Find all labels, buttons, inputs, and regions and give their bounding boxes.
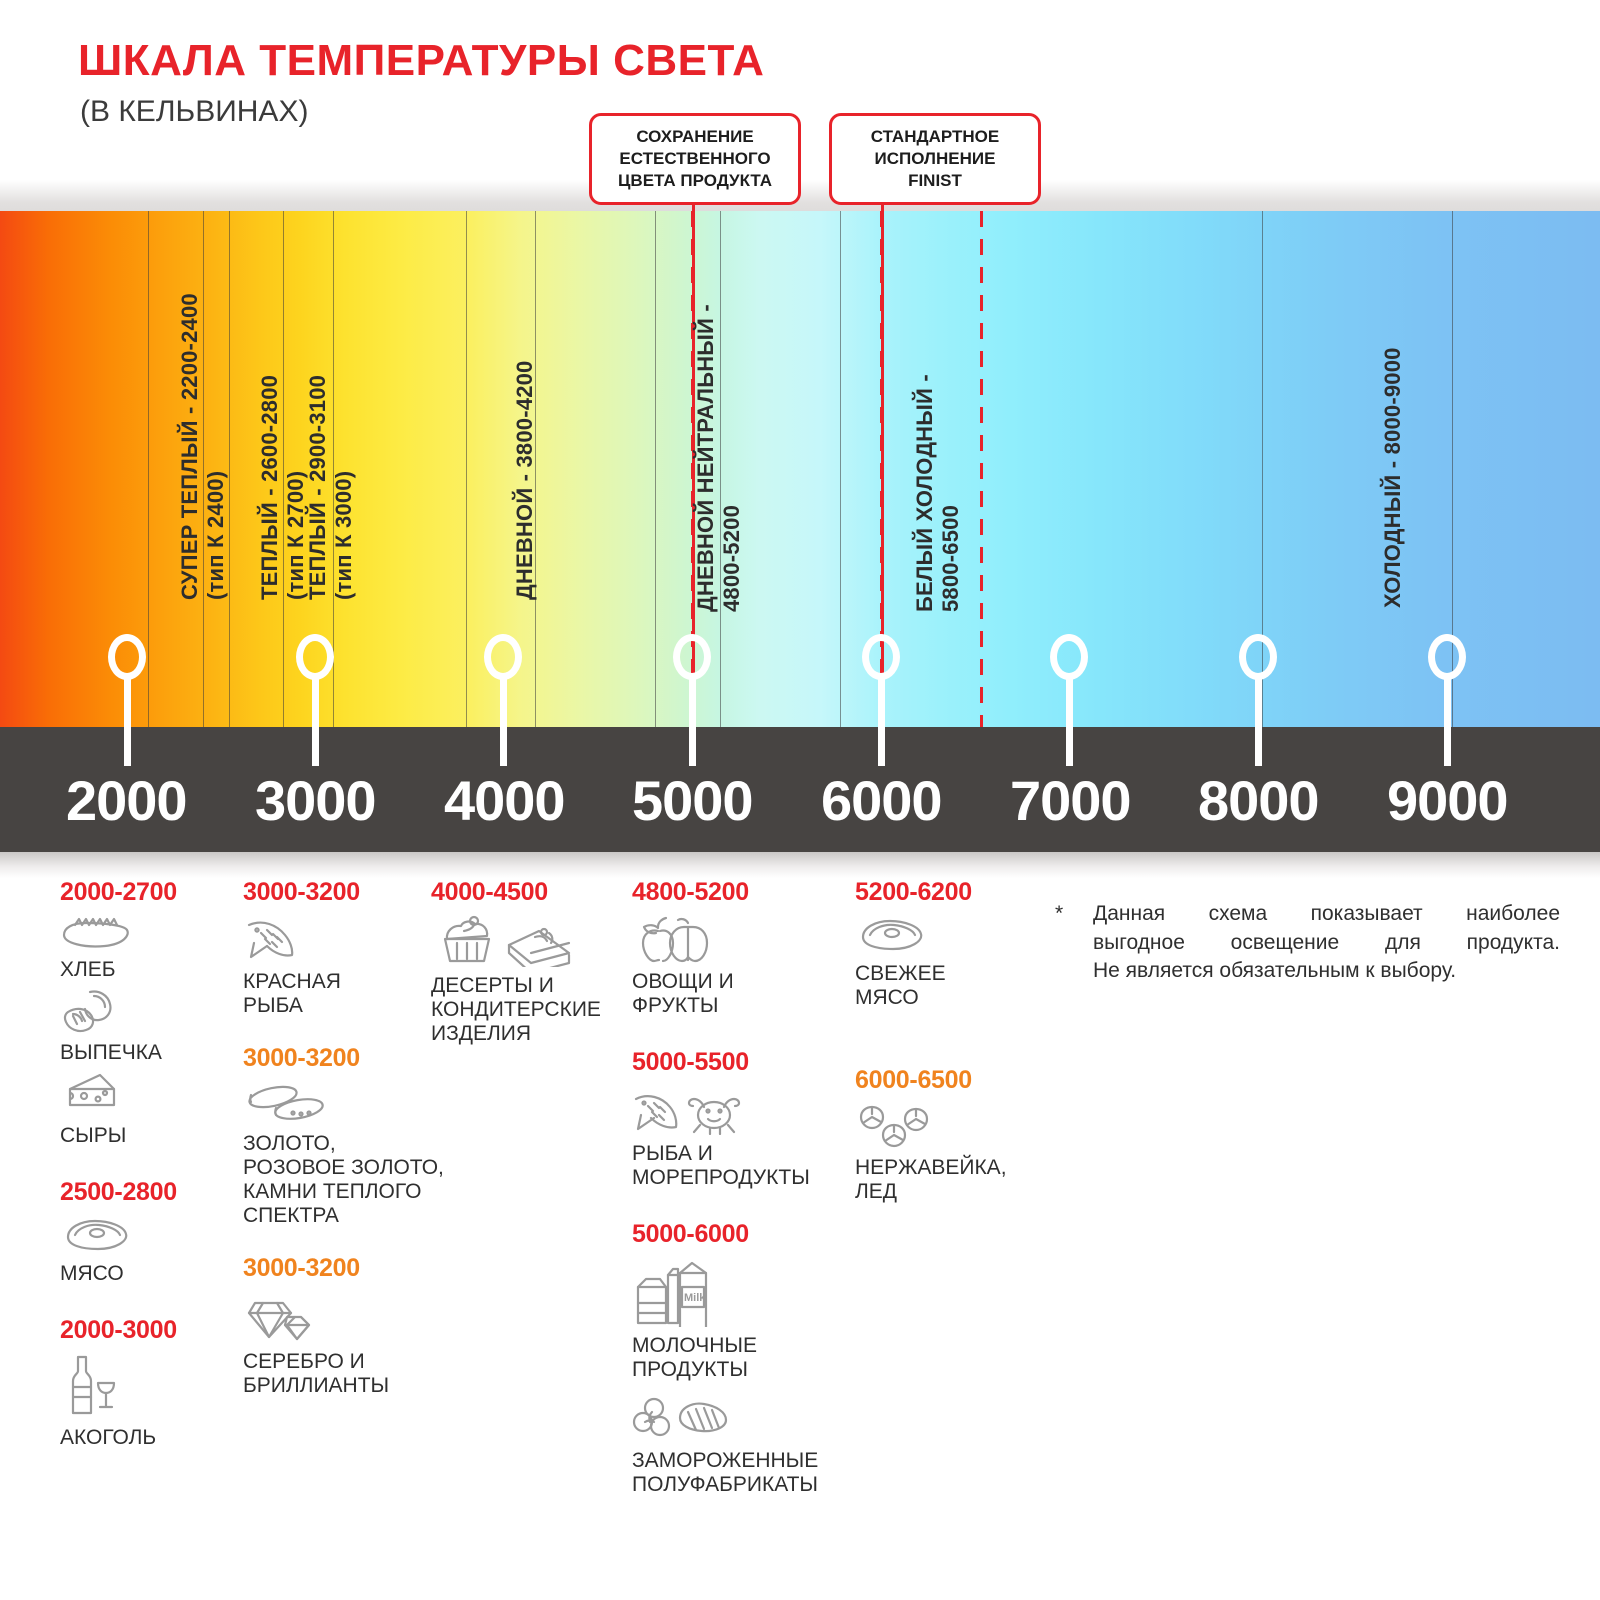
legend-label: ДЕСЕРТЫ И КОНДИТЕРСКИЕ ИЗДЕЛИЯ [431,974,621,1046]
legend-label: ВЫПЕЧКА [60,1041,235,1065]
legend-label: ЗОЛОТО, РОЗОВОЕ ЗОЛОТО, КАМНИ ТЕПЛОГО СП… [243,1132,473,1228]
cheese-icon [60,1071,235,1122]
callout-finist-standard[interactable]: СТАНДАРТНОЕ ИСПОЛНЕНИЕ FINIST [829,113,1041,205]
scale-tick-6000: 6000 [821,768,942,833]
band-label-white-cold-1: БЕЛЫЙ ХОЛОДНЫЙ - [912,374,938,612]
legend-range: 2500-2800 [60,1178,235,1207]
legend-label: НЕРЖАВЕЙКА, ЛЕД [855,1156,1045,1204]
band-label-daylight-neutral-2: 4800-5200 [719,505,745,612]
legend-column-1: 2000-2700 ХЛЕБ ВЫПЕЧКА [60,878,235,1456]
legend-group: 4800-5200 ОВОЩИ И ФРУКТЫ [632,878,857,1018]
scale-bottom-shadow [0,852,1600,878]
band-divider [466,211,467,727]
band-divider [720,211,721,727]
marker-stem [1066,674,1073,766]
footnote-line-2: выгодное освещение для продукта. [1093,929,1560,958]
legend-column-5: 5200-6200 СВЕЖЕЕ МЯСО 6000-6500 НЕРЖАВЕЙ… [855,878,1045,1210]
band-label-super-warm-1: СУПЕР ТЕПЛЫЙ - 2200-2400 [177,293,203,600]
band-label-super-warm-2: (тип К 2400) [203,471,229,600]
legend-range: 3000-3200 [243,1254,473,1283]
page-subtitle: (В КЕЛЬВИНАХ) [80,95,308,129]
bread-icon [60,915,235,956]
band-divider [655,211,656,727]
fish-crab-icon [632,1085,857,1140]
kelvin-scale-bar [0,727,1600,852]
cupcake-cake-icon [431,915,621,972]
footnote: * Данная схема показывает наиболее выгод… [1055,900,1560,986]
legend-group: 5200-6200 СВЕЖЕЕ МЯСО [855,878,1045,1010]
legend-range: 2000-3000 [60,1316,235,1345]
legend-item[interactable]: СЫРЫ [60,1071,235,1148]
legend-group: 5000-6000 Milk МОЛОЧНЫЕ ПРОДУКТЫ ЗАМОРОЖ… [632,1220,857,1497]
legend-item[interactable]: СЕРЕБРО И БРИЛЛИАНТЫ [243,1291,473,1398]
legend-item[interactable]: ОВОЩИ И ФРУКТЫ [632,915,857,1018]
page-title: ШКАЛА ТЕМПЕРАТУРЫ СВЕТА [78,36,764,86]
legend-range: 5000-6000 [632,1220,857,1249]
legend-group: 5000-5500 РЫБА И МОРЕПРОДУКТЫ [632,1048,857,1190]
scale-tick-8000: 8000 [1198,768,1319,833]
legend-item[interactable]: РЫБА И МОРЕПРОДУКТЫ [632,1085,857,1190]
band-label-daylight: ДНЕВНОЙ - 3800-4200 [512,361,538,601]
steak-icon [60,1215,235,1260]
legend-group: 4000-4500 ДЕСЕРТЫ И КОНДИТЕРСКИЕ ИЗДЕЛИЯ [431,878,621,1046]
scale-tick-2000: 2000 [66,768,187,833]
bottle-glass-icon [60,1353,235,1424]
fresh-meat-icon [855,915,1045,960]
legend-group: 2000-3000 АКОГОЛЬ [60,1316,235,1450]
legend-label: ХЛЕБ [60,958,235,982]
legend-item[interactable]: СВЕЖЕЕ МЯСО [855,915,1045,1010]
frozen-food-icon [632,1396,857,1447]
footnote-line-3: Не является обязательным к выбору. [1093,957,1560,986]
band-label-white-cold-2: 5800-6500 [938,505,964,612]
legend-item[interactable]: ЗАМОРОЖЕННЫЕ ПОЛУФАБРИКАТЫ [632,1396,857,1497]
band-divider [203,211,204,727]
band-label-warm3000-1: ТЕПЛЫЙ - 2900-3100 [305,375,331,600]
legend-group: 3000-3200 СЕРЕБРО И БРИЛЛИАНТЫ [243,1254,473,1398]
product-legend: 2000-2700 ХЛЕБ ВЫПЕЧКА [0,878,1600,1600]
legend-label: МОЛОЧНЫЕ ПРОДУКТЫ [632,1334,857,1382]
legend-label: ОВОЩИ И ФРУКТЫ [632,970,857,1018]
scale-tick-9000: 9000 [1387,768,1508,833]
legend-label: МЯСО [60,1262,235,1286]
band-divider [283,211,284,727]
color-temperature-spectrum [0,211,1600,727]
marker-stem [1444,674,1451,766]
legend-item[interactable]: АКОГОЛЬ [60,1353,235,1450]
legend-label: АКОГОЛЬ [60,1426,235,1450]
band-divider [148,211,149,727]
callout-finist-standard-l1: СТАНДАРТНОЕ ИСПОЛНЕНИЕ FINIST [844,126,1026,191]
legend-item[interactable]: ДЕСЕРТЫ И КОНДИТЕРСКИЕ ИЗДЕЛИЯ [431,915,621,1046]
milk-carton-icon: Milk [632,1257,857,1332]
legend-item[interactable]: Milk МОЛОЧНЫЕ ПРОДУКТЫ [632,1257,857,1382]
band-label-cold: ХОЛОДНЫЙ - 8000-9000 [1380,347,1406,608]
ice-cubes-icon [855,1103,1045,1154]
legend-group: 6000-6500 НЕРЖАВЕЙКА, ЛЕД [855,1066,1045,1204]
legend-column-3: 4000-4500 ДЕСЕРТЫ И КОНДИТЕРСКИЕ ИЗДЕЛИЯ [431,878,621,1052]
legend-range: 5000-5500 [632,1048,857,1077]
scale-tick-4000: 4000 [444,768,565,833]
marker-stem [312,674,319,766]
legend-group: 3000-3200 ЗОЛОТО, РОЗОВОЕ ЗОЛОТО, КАМНИ … [243,1044,473,1228]
legend-column-4: 4800-5200 ОВОЩИ И ФРУКТЫ 5000-5500 РЫБА … [632,878,857,1503]
band-divider [229,211,230,727]
legend-range: 6000-6500 [855,1066,1045,1095]
legend-label: СЫРЫ [60,1124,235,1148]
marker-stem [1255,674,1262,766]
apple-pepper-icon [632,915,857,968]
legend-item[interactable]: НЕРЖАВЕЙКА, ЛЕД [855,1103,1045,1204]
band-label-warm3000-2: (тип К 3000) [331,471,357,600]
marker-stem [689,674,696,766]
legend-label: ЗАМОРОЖЕННЫЕ ПОЛУФАБРИКАТЫ [632,1449,857,1497]
legend-range: 2000-2700 [60,878,235,907]
callout-natural-color-l1: СОХРАНЕНИЕ ЕСТЕСТВЕННОГО ЦВЕТА ПРОДУКТА [604,126,786,191]
diamond-icon [243,1291,473,1348]
legend-label: РЫБА И МОРЕПРОДУКТЫ [632,1142,857,1190]
marker-stem [124,674,131,766]
callout-natural-color[interactable]: СОХРАНЕНИЕ ЕСТЕСТВЕННОГО ЦВЕТА ПРОДУКТА [589,113,801,205]
legend-group: 2000-2700 ХЛЕБ ВЫПЕЧКА [60,878,235,1148]
footnote-star: * [1055,900,1063,929]
rings-icon [243,1081,473,1130]
marker-stem [878,674,885,766]
scale-tick-7000: 7000 [1010,768,1131,833]
legend-label: СЕРЕБРО И БРИЛЛИАНТЫ [243,1350,473,1398]
legend-range: 4800-5200 [632,878,857,907]
legend-range: 4000-4500 [431,878,621,907]
legend-item[interactable]: МЯСО [60,1215,235,1286]
legend-label: СВЕЖЕЕ МЯСО [855,962,1045,1010]
marker-stem [500,674,507,766]
scale-tick-3000: 3000 [255,768,376,833]
footnote-line-1: Данная схема показывает наиболее [1093,900,1560,929]
band-divider [840,211,841,727]
red-dashed-marker-6500 [980,211,983,727]
infographic-root: ШКАЛА ТЕМПЕРАТУРЫ СВЕТА (В КЕЛЬВИНАХ) СО… [0,0,1600,1600]
croissant-icon [60,988,235,1039]
band-label-daylight-neutral-1: ДНЕВНОЙ НЕЙТРАЛЬНЫЙ - [693,304,719,612]
scale-tick-5000: 5000 [632,768,753,833]
legend-group: 2500-2800 МЯСО [60,1178,235,1286]
legend-item[interactable]: ВЫПЕЧКА [60,988,235,1065]
legend-item[interactable]: ХЛЕБ [60,915,235,982]
legend-range: 5200-6200 [855,878,1045,907]
band-label-warm2700-1: ТЕПЛЫЙ - 2600-2800 [257,375,283,600]
legend-item[interactable]: ЗОЛОТО, РОЗОВОЕ ЗОЛОТО, КАМНИ ТЕПЛОГО СП… [243,1081,473,1228]
